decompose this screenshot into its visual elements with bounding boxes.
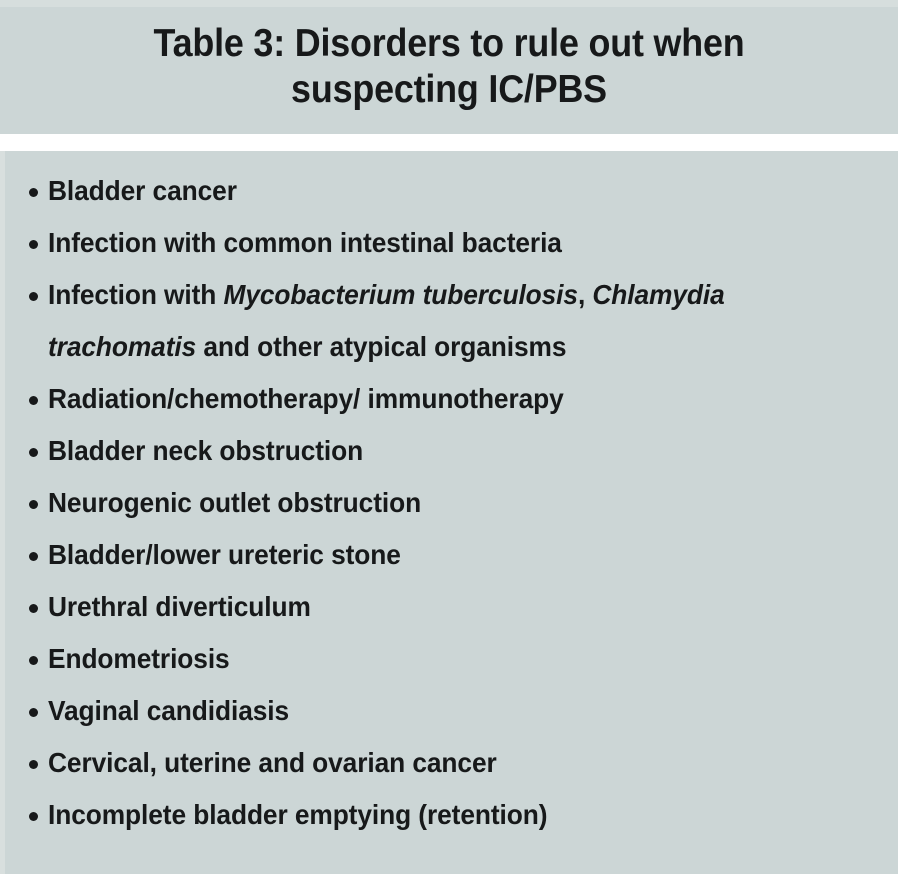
bullet-icon: [29, 552, 38, 561]
bullet-icon: [29, 396, 38, 405]
panel-divider: [0, 134, 898, 151]
list-item: Vaginal candidiasis: [0, 685, 898, 737]
list-item: Radiation/chemotherapy/ immunotherapy: [0, 373, 898, 425]
list-item: Cervical, uterine and ovarian cancer: [0, 737, 898, 789]
list-item-label: Bladder/lower ureteric stone: [48, 529, 809, 581]
list-item-label: Cervical, uterine and ovarian cancer: [48, 737, 809, 789]
scientific-name: Mycobacterium tuberculosis: [224, 279, 578, 310]
bullet-icon: [29, 240, 38, 249]
bullet-icon: [29, 604, 38, 613]
list-item: Bladder/lower ureteric stone: [0, 529, 898, 581]
list-item-label: Infection with Mycobacterium tuberculosi…: [48, 269, 809, 373]
list-item-label: Infection with common intestinal bacteri…: [48, 217, 809, 269]
list-item: Bladder neck obstruction: [0, 425, 898, 477]
table-header-panel: Table 3: Disorders to rule out when susp…: [0, 0, 898, 134]
table-title-line-1: Table 3: Disorders to rule out when: [127, 21, 771, 67]
table-title: Table 3: Disorders to rule out when susp…: [127, 21, 771, 113]
list-item: Bladder cancer: [0, 165, 898, 217]
bullet-icon: [29, 448, 38, 457]
list-item: Infection with common intestinal bacteri…: [0, 217, 898, 269]
bullet-icon: [29, 188, 38, 197]
list-item: Incomplete bladder emptying (retention): [0, 789, 898, 841]
bullet-icon: [29, 656, 38, 665]
bullet-icon: [29, 292, 38, 301]
list-item: Neurogenic outlet obstruction: [0, 477, 898, 529]
list-item-label: Radiation/chemotherapy/ immunotherapy: [48, 373, 809, 425]
list-item-label: Bladder cancer: [48, 165, 809, 217]
list-item-label: Urethral diverticulum: [48, 581, 809, 633]
list-item-label: Vaginal candidiasis: [48, 685, 809, 737]
table-figure: Table 3: Disorders to rule out when susp…: [0, 0, 898, 874]
list-item: Infection with Mycobacterium tuberculosi…: [0, 269, 898, 373]
bullet-icon: [29, 812, 38, 821]
list-item-label: Bladder neck obstruction: [48, 425, 809, 477]
bullet-icon: [29, 500, 38, 509]
bullet-icon: [29, 708, 38, 717]
list-item: Endometriosis: [0, 633, 898, 685]
list-item-label: Neurogenic outlet obstruction: [48, 477, 809, 529]
bullet-icon: [29, 760, 38, 769]
list-item-label: Endometriosis: [48, 633, 809, 685]
list-item-label: Incomplete bladder emptying (retention): [48, 789, 809, 841]
disorder-list: Bladder cancerInfection with common inte…: [0, 165, 898, 841]
table-title-line-2: suspecting IC/PBS: [127, 67, 771, 113]
list-item: Urethral diverticulum: [0, 581, 898, 633]
table-body-panel: Bladder cancerInfection with common inte…: [0, 151, 898, 874]
